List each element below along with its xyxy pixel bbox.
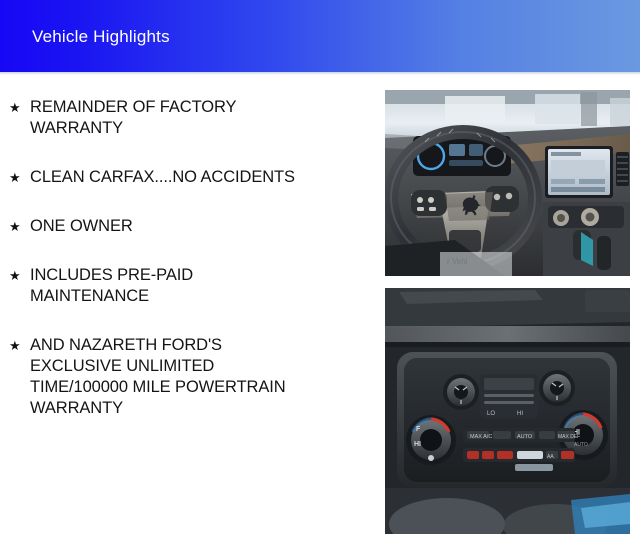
content-area: ★ REMAINDER OF FACTORY WARRANTY ★ CLEAN … — [0, 72, 640, 480]
list-item-label: CLEAN CARFAX....NO ACCIDENTS — [30, 167, 375, 188]
list-item: ★ REMAINDER OF FACTORY WARRANTY — [0, 97, 375, 139]
page-header: Vehicle Highlights — [0, 0, 640, 72]
climate-controls-photo[interactable]: LO HI — [385, 288, 630, 534]
svg-text:MAX A/C: MAX A/C — [470, 434, 492, 440]
list-item: ★ CLEAN CARFAX....NO ACCIDENTS — [0, 167, 375, 188]
svg-text:r Vehi: r Vehi — [447, 257, 468, 266]
svg-text:HI: HI — [517, 411, 523, 417]
list-item: ★ ONE OWNER — [0, 216, 375, 237]
star-icon: ★ — [9, 335, 30, 356]
list-item-label: INCLUDES PRE-PAID MAINTENANCE — [30, 265, 375, 307]
svg-text:LO: LO — [487, 411, 495, 417]
svg-text:AA: AA — [547, 454, 554, 460]
list-item-label: REMAINDER OF FACTORY WARRANTY — [30, 97, 375, 139]
svg-text:AUTO: AUTO — [517, 434, 533, 440]
list-item: ★ AND NAZARETH FORD'S EXCLUSIVE UNLIMITE… — [0, 335, 375, 419]
svg-text:MAX DEF: MAX DEF — [558, 434, 580, 440]
vehicle-highlights-list: ★ REMAINDER OF FACTORY WARRANTY ★ CLEAN … — [0, 72, 375, 419]
svg-text:HI: HI — [414, 441, 421, 448]
star-icon: ★ — [9, 265, 30, 286]
star-icon: ★ — [9, 97, 30, 118]
list-item: ★ INCLUDES PRE-PAID MAINTENANCE — [0, 265, 375, 307]
star-icon: ★ — [9, 167, 30, 188]
list-item-label: ONE OWNER — [30, 216, 375, 237]
star-icon: ★ — [9, 216, 30, 237]
page-title: Vehicle Highlights — [32, 28, 170, 45]
steering-wheel-photo[interactable]: r Vehi — [385, 90, 630, 276]
list-item-label: AND NAZARETH FORD'S EXCLUSIVE UNLIMITED … — [30, 335, 375, 419]
svg-text:AUTO: AUTO — [574, 442, 588, 448]
svg-text:F: F — [416, 426, 421, 433]
